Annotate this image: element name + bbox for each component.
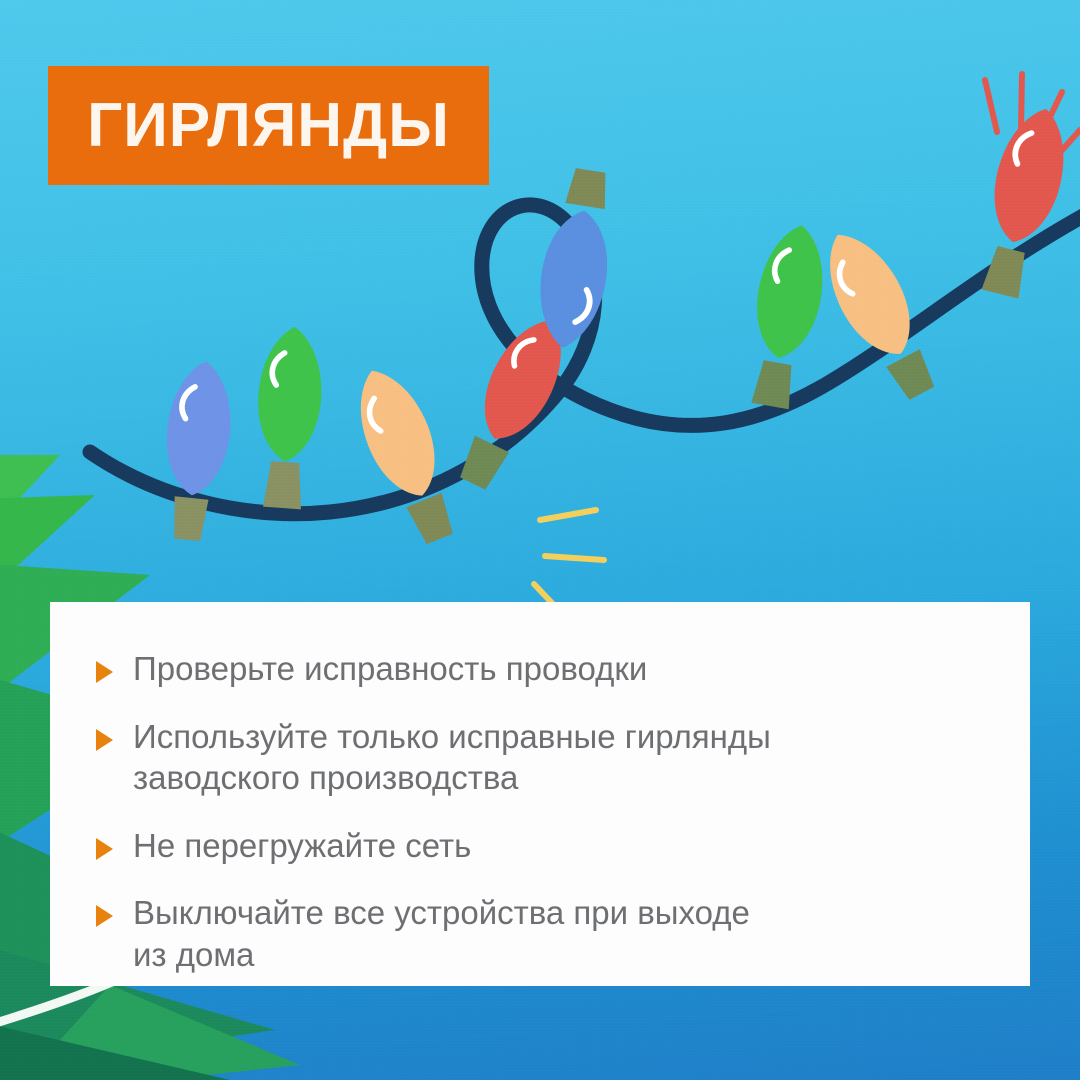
triangle-bullet-icon bbox=[96, 729, 113, 751]
list-item-label: Используйте только исправные гирлянды за… bbox=[133, 716, 771, 799]
bulb-blue-left-low bbox=[156, 358, 237, 543]
tips-card: Проверьте исправность проводки Используй… bbox=[50, 602, 1030, 986]
triangle-bullet-icon bbox=[96, 661, 113, 683]
page-title: ГИРЛЯНДЫ bbox=[87, 95, 450, 157]
title-banner: ГИРЛЯНДЫ bbox=[48, 66, 489, 185]
list-item: Проверьте исправность проводки bbox=[96, 648, 984, 690]
list-item: Не перегружайте сеть bbox=[96, 825, 984, 867]
tips-list: Проверьте исправность проводки Используй… bbox=[96, 648, 984, 975]
list-item: Используйте только исправные гирлянды за… bbox=[96, 716, 984, 799]
list-item: Выключайте все устройства при выходе из … bbox=[96, 892, 984, 975]
list-item-label: Не перегружайте сеть bbox=[133, 825, 471, 867]
bulb-peach-center-low bbox=[343, 359, 469, 551]
bulb-green-left bbox=[251, 325, 326, 510]
list-item-label: Проверьте исправность проводки bbox=[133, 648, 647, 690]
triangle-bullet-icon bbox=[96, 905, 113, 927]
triangle-bullet-icon bbox=[96, 838, 113, 860]
poster-canvas: ГИРЛЯНДЫ Проверьте исправность проводки … bbox=[0, 0, 1080, 1080]
list-item-label: Выключайте все устройства при выходе из … bbox=[133, 892, 750, 975]
